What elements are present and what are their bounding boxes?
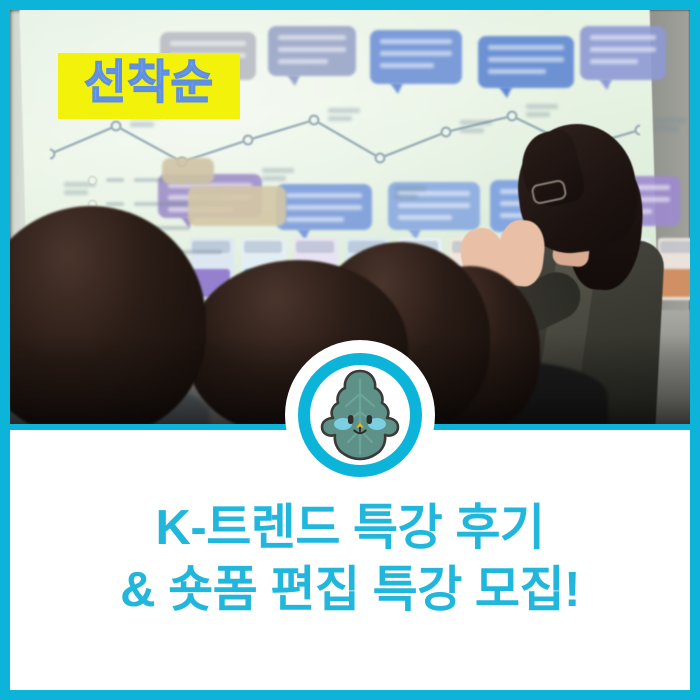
caption-line-2: & 숏폼 편집 특강 모집!: [120, 561, 580, 621]
slide-bubble-text: [286, 205, 362, 210]
slide-node-label: [394, 194, 418, 199]
slide-node-label: [130, 122, 154, 127]
slide-node-label: [328, 116, 352, 121]
slide-bubble-text: [398, 215, 452, 220]
slide-bubble-text: [278, 59, 328, 64]
slide-bubble-text: [278, 47, 346, 52]
slide-node-label: [262, 176, 286, 181]
slide-bubble-text: [380, 51, 452, 56]
leaf-mascot-icon: [318, 368, 402, 462]
status-badge: 선착순: [58, 53, 240, 119]
slide-bubble-text: [170, 41, 246, 46]
slide-bullet-text: [106, 178, 124, 182]
slide-bubble-text: [380, 63, 434, 68]
slide-bubble-text: [590, 35, 656, 40]
promo-card: 선착순: [0, 0, 700, 700]
slide-bubble-tail: [599, 79, 612, 90]
slide-bubble-text: [286, 217, 344, 222]
slide-node-label: [526, 104, 558, 109]
eye-left: [348, 415, 353, 424]
slide-node-label: [526, 112, 550, 117]
badge-label: 선착순: [84, 58, 214, 108]
slide-speech-bubble: [478, 36, 574, 88]
slide-node-label: [394, 186, 426, 191]
slide-note-box: [188, 186, 286, 226]
slide-node-label: [262, 168, 294, 173]
slide-bubble-text: [590, 47, 656, 52]
slide-bubble-text: [488, 45, 564, 50]
slide-bubble-text: [488, 57, 564, 62]
slide-bubble-tail: [390, 83, 403, 94]
slide-bubble-text: [488, 69, 546, 74]
slide-bubble-text: [380, 39, 452, 44]
slide-note-box: [162, 158, 214, 184]
slide-node-label: [64, 190, 88, 195]
eye-right: [367, 415, 372, 424]
brand-emblem: [285, 340, 435, 490]
slide-thumbnail-header: [296, 241, 334, 253]
slide-bubble-tail: [287, 75, 300, 86]
slide-bubble-text: [590, 59, 638, 64]
slide-thumbnail-header: [244, 241, 282, 253]
slide-bullet-dot: [88, 176, 97, 185]
card-inner: 선착순: [10, 10, 690, 690]
caption-line-1: K-트렌드 특강 후기: [156, 499, 545, 559]
slide-bullet-text: [106, 202, 124, 206]
slide-node-label: [328, 108, 360, 113]
slide-bubble-text: [278, 35, 346, 40]
